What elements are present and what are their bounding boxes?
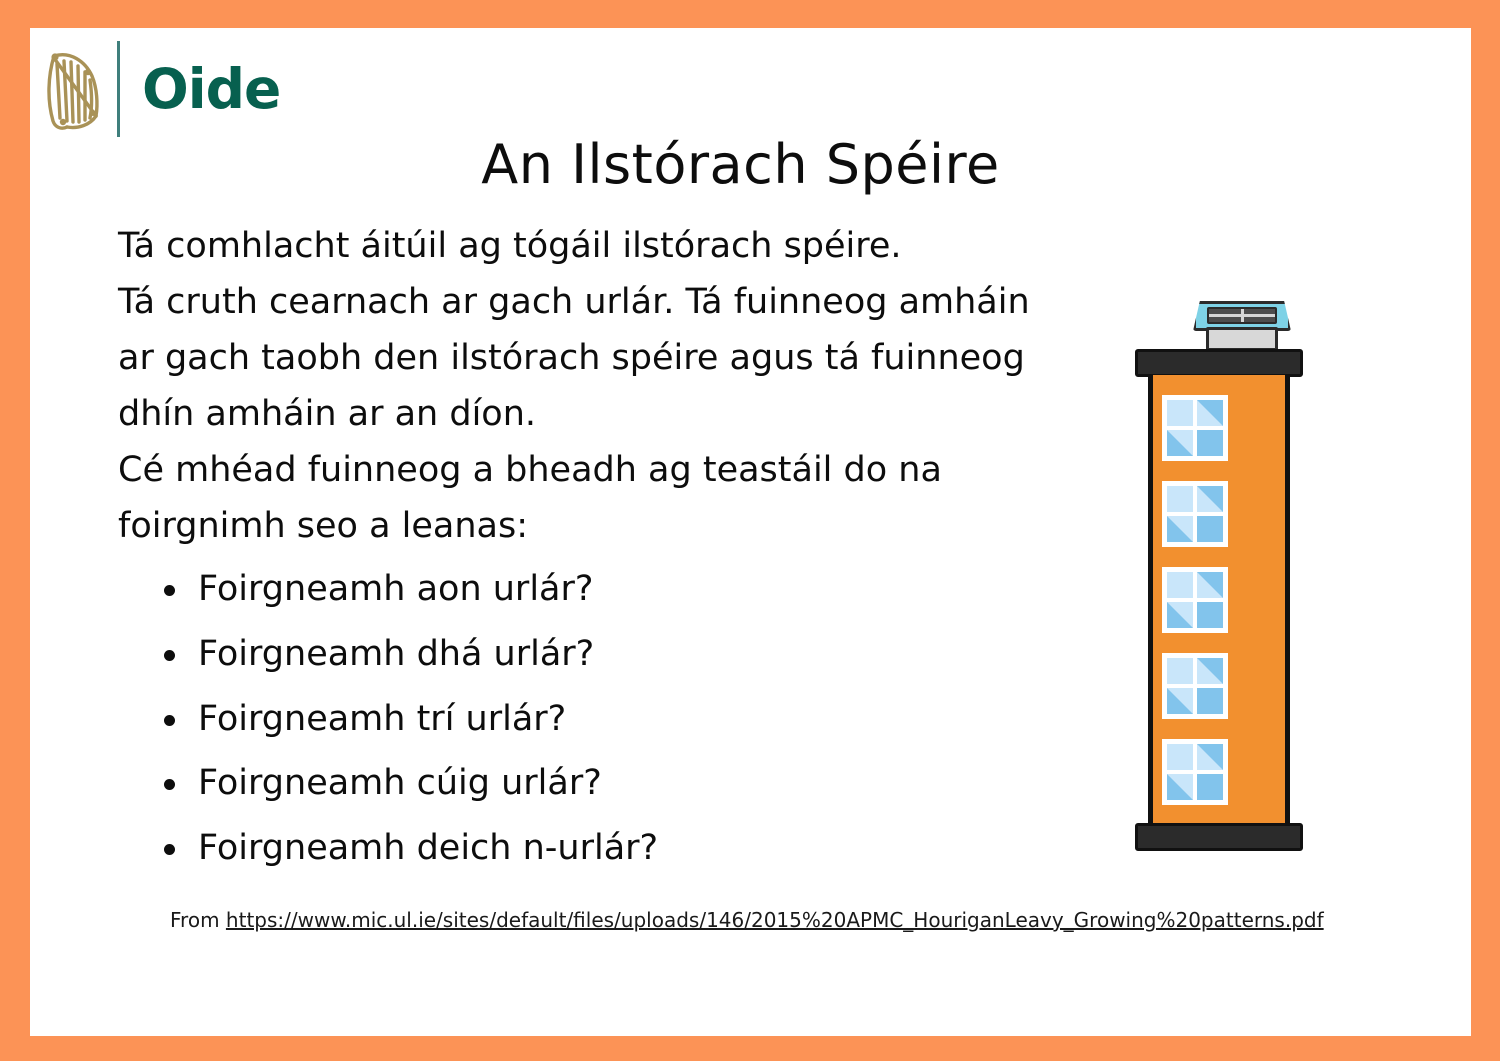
bullet-dot-icon bbox=[164, 585, 175, 596]
window-pane bbox=[1167, 516, 1193, 542]
logo-divider bbox=[117, 41, 120, 137]
window-pane bbox=[1197, 602, 1223, 628]
slide-card: Oide An Ilstórach Spéire Tá comhlacht ái… bbox=[30, 28, 1471, 1036]
window-pane bbox=[1197, 658, 1223, 684]
roof-window-base bbox=[1206, 327, 1278, 351]
window-pane bbox=[1167, 602, 1193, 628]
window-pane bbox=[1167, 658, 1193, 684]
source-link[interactable]: https://www.mic.ul.ie/sites/default/file… bbox=[226, 908, 1324, 932]
window-pane bbox=[1167, 744, 1193, 770]
irish-harp-icon bbox=[35, 39, 111, 139]
list-item: Foirgneamh cúig urlár? bbox=[156, 762, 1103, 806]
list-item: Foirgneamh deich n-urlár? bbox=[156, 827, 1103, 871]
window-pane bbox=[1197, 744, 1223, 770]
paragraph-line: Tá comhlacht áitúil ag tógáil ilstórach … bbox=[118, 218, 1103, 274]
list-item: Foirgneamh aon urlár? bbox=[156, 568, 1103, 612]
paragraph-line: Cé mhéad fuinneog a bheadh ag teastáil d… bbox=[118, 442, 1103, 498]
building-window bbox=[1162, 653, 1228, 719]
building-base-slab bbox=[1135, 823, 1303, 851]
bullet-dot-icon bbox=[164, 715, 175, 726]
bullet-dot-icon bbox=[164, 650, 175, 661]
list-item-label: Foirgneamh deich n-urlár? bbox=[198, 828, 658, 868]
window-pane bbox=[1167, 774, 1193, 800]
list-item: Foirgneamh trí urlár? bbox=[156, 698, 1103, 742]
question-list: Foirgneamh aon urlár? Foirgneamh dhá url… bbox=[118, 568, 1103, 871]
roof-window-glass bbox=[1207, 307, 1277, 324]
building-roof-slab bbox=[1135, 349, 1303, 377]
paragraph-line: dhín amháin ar an díon. bbox=[118, 386, 1103, 442]
multi-storey-building-illustration bbox=[1115, 283, 1345, 903]
list-item-label: Foirgneamh dhá urlár? bbox=[198, 634, 594, 674]
window-pane bbox=[1197, 572, 1223, 598]
window-pane bbox=[1197, 430, 1223, 456]
window-pane bbox=[1197, 400, 1223, 426]
bullet-dot-icon bbox=[164, 844, 175, 855]
oide-logo: Oide bbox=[35, 34, 365, 144]
bullet-dot-icon bbox=[164, 779, 175, 790]
slide-background: Oide An Ilstórach Spéire Tá comhlacht ái… bbox=[0, 0, 1500, 1061]
list-item-label: Foirgneamh cúig urlár? bbox=[198, 763, 602, 803]
building-window bbox=[1162, 567, 1228, 633]
building-window bbox=[1162, 739, 1228, 805]
window-pane bbox=[1167, 400, 1193, 426]
window-pane bbox=[1197, 486, 1223, 512]
paragraph-line: Tá cruth cearnach ar gach urlár. Tá fuin… bbox=[118, 274, 1103, 330]
paragraph-line: foirgnimh seo a leanas: bbox=[118, 498, 1103, 554]
list-item-label: Foirgneamh aon urlár? bbox=[198, 569, 593, 609]
window-pane bbox=[1167, 486, 1193, 512]
window-pane bbox=[1197, 774, 1223, 800]
window-pane bbox=[1167, 572, 1193, 598]
window-pane bbox=[1167, 688, 1193, 714]
source-prefix: From bbox=[170, 908, 226, 932]
window-pane bbox=[1167, 430, 1193, 456]
building-window bbox=[1162, 481, 1228, 547]
building-window bbox=[1162, 395, 1228, 461]
page-title: An Ilstórach Spéire bbox=[30, 133, 1471, 196]
list-item: Foirgneamh dhá urlár? bbox=[156, 633, 1103, 677]
paragraph-line: ar gach taobh den ilstórach spéire agus … bbox=[118, 330, 1103, 386]
window-pane bbox=[1197, 688, 1223, 714]
body-text: Tá comhlacht áitúil ag tógáil ilstórach … bbox=[118, 218, 1103, 892]
list-item-label: Foirgneamh trí urlár? bbox=[198, 699, 566, 739]
logo-wordmark: Oide bbox=[142, 62, 280, 117]
window-pane bbox=[1197, 516, 1223, 542]
source-attribution: From https://www.mic.ul.ie/sites/default… bbox=[170, 908, 1324, 932]
